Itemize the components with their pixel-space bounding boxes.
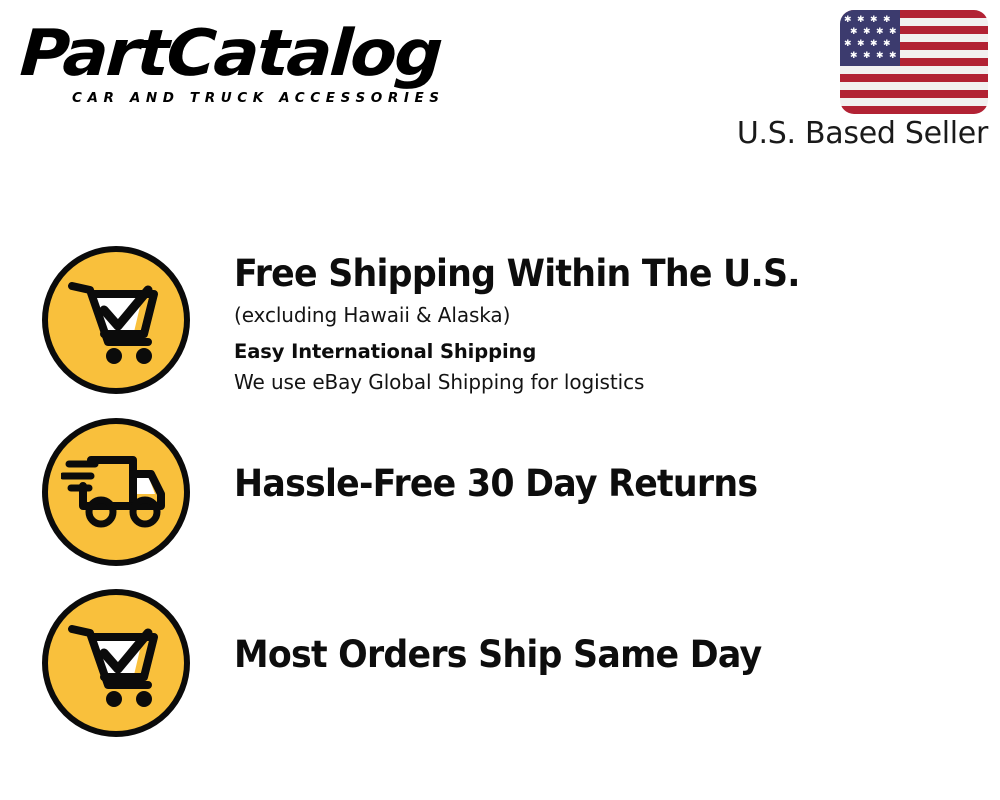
feature-title: Free Shipping Within The U.S. [234, 252, 800, 296]
logo-tagline: CAR AND TRUCK ACCESSORIES [72, 90, 492, 106]
shopping-cart-check-icon [42, 246, 190, 394]
shopping-cart-check-icon [42, 589, 190, 737]
header: PartCatalog CAR AND TRUCK ACCESSORIES ✱ … [0, 0, 1000, 170]
feature-secondary-title: Easy International Shipping [234, 337, 836, 367]
feature-title: Most Orders Ship Same Day [234, 633, 761, 677]
feature-text: Free Shipping Within The U.S. (excluding… [234, 246, 836, 397]
feature-title: Hassle-Free 30 Day Returns [234, 462, 757, 506]
brand-logo[interactable]: PartCatalog CAR AND TRUCK ACCESSORIES [22, 22, 492, 106]
delivery-truck-icon [42, 418, 190, 566]
feature-subtitle: (excluding Hawaii & Alaska) [234, 300, 836, 330]
us-flag-icon: ✱ ✱ ✱ ✱ ✱ ✱ ✱ ✱ ✱ ✱ ✱ ✱ ✱ ✱ ✱ ✱ [840, 10, 988, 114]
us-flag-badge: ✱ ✱ ✱ ✱ ✱ ✱ ✱ ✱ ✱ ✱ ✱ ✱ ✱ ✱ ✱ ✱ [840, 10, 988, 114]
us-based-seller-label: U.S. Based Seller [737, 116, 988, 152]
feature-text: Most Orders Ship Same Day [234, 589, 795, 677]
flag-canton: ✱ ✱ ✱ ✱ ✱ ✱ ✱ ✱ ✱ ✱ ✱ ✱ ✱ ✱ ✱ ✱ [840, 10, 900, 66]
logo-wordmark: PartCatalog [18, 22, 520, 86]
feature-row: Free Shipping Within The U.S. (excluding… [42, 246, 982, 398]
promo-banner: { "page": { "background": "#ffffff", "ac… [0, 0, 1000, 800]
feature-row: Most Orders Ship Same Day [42, 589, 982, 741]
feature-secondary-note: We use eBay Global Shipping for logistic… [234, 367, 836, 397]
feature-row: Hassle-Free 30 Day Returns [42, 418, 982, 570]
feature-text: Hassle-Free 30 Day Returns [234, 418, 791, 506]
